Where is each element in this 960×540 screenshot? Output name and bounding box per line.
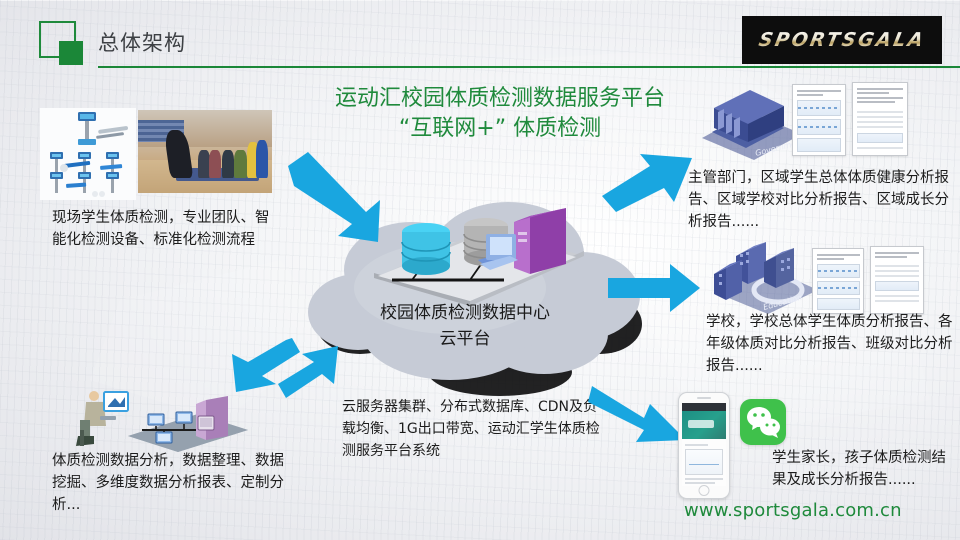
diagram-title: 运动汇校园体质检测数据服务平台 “互联网+” 体质检测 bbox=[300, 84, 700, 144]
page-title: 总体架构 bbox=[98, 27, 186, 57]
diagram-title-line2: “互联网+” 体质检测 bbox=[300, 114, 700, 144]
cloud-center-label: 校园体质检测数据中心 云平台 bbox=[350, 300, 580, 352]
slide-canvas: 总体架构 SPORTSGALA 运动汇校园体质检测数据服务平台 “互联网+” 体… bbox=[0, 0, 960, 540]
arrow-cloud-to-government bbox=[600, 152, 694, 214]
sportsgala-logo: SPORTSGALA bbox=[742, 16, 942, 64]
arrow-collection-to-cloud bbox=[282, 152, 386, 244]
wechat-icon bbox=[740, 399, 786, 445]
text-parent-reports: 学生家长，孩子体质检测结果及成长分析报告...... bbox=[772, 447, 952, 491]
cloud-label-line1: 校园体质检测数据中心 bbox=[350, 300, 580, 326]
website-url[interactable]: www.sportsgala.com.cn bbox=[684, 500, 902, 521]
fitness-testing-equipment-illustration bbox=[40, 108, 136, 200]
cloud-label-line2: 云平台 bbox=[350, 326, 580, 352]
header-square-filled-icon bbox=[59, 41, 83, 65]
arrow-cloud-to-parents bbox=[588, 380, 688, 446]
arrow-analysis-cloud-bidirectional bbox=[230, 336, 342, 404]
text-school-reports: 学校，学校总体学生体质分析报告、各年级体质对比分析报告、班级对比分析报告....… bbox=[706, 311, 956, 377]
text-cloud-infrastructure: 云服务器集群、分布式数据库、CDN及负载均衡、1G出口带宽、运动汇学生体质检测服… bbox=[342, 396, 610, 462]
mobile-app-mockup bbox=[678, 392, 730, 499]
report-document-region-1 bbox=[792, 84, 846, 156]
report-document-school-2 bbox=[870, 246, 924, 314]
text-data-analysis: 体质检测数据分析，数据整理、数据挖掘、多维度数据分析报表、定制分析... bbox=[52, 450, 284, 516]
data-analysis-network-illustration bbox=[70, 386, 250, 452]
school-building-icon: Education bbox=[702, 242, 826, 316]
text-government-reports: 主管部门，区域学生总体体质健康分析报告、区域学校对比分析报告、区域成长分析报告.… bbox=[688, 167, 950, 233]
report-document-region-2 bbox=[852, 82, 908, 156]
diagram-title-line1: 运动汇校园体质检测数据服务平台 bbox=[335, 86, 665, 111]
data-center-servers-icon bbox=[354, 202, 604, 310]
report-document-school-1 bbox=[812, 248, 864, 314]
students-fitness-test-photo bbox=[138, 110, 272, 193]
header-divider bbox=[98, 66, 960, 68]
wechat-glyph bbox=[740, 399, 786, 445]
text-onsite-testing: 现场学生体质检测，专业团队、智能化检测设备、标准化检测流程 bbox=[52, 207, 280, 251]
logo-text: SPORTSGALA bbox=[757, 29, 928, 51]
arrow-cloud-to-school bbox=[608, 264, 700, 312]
